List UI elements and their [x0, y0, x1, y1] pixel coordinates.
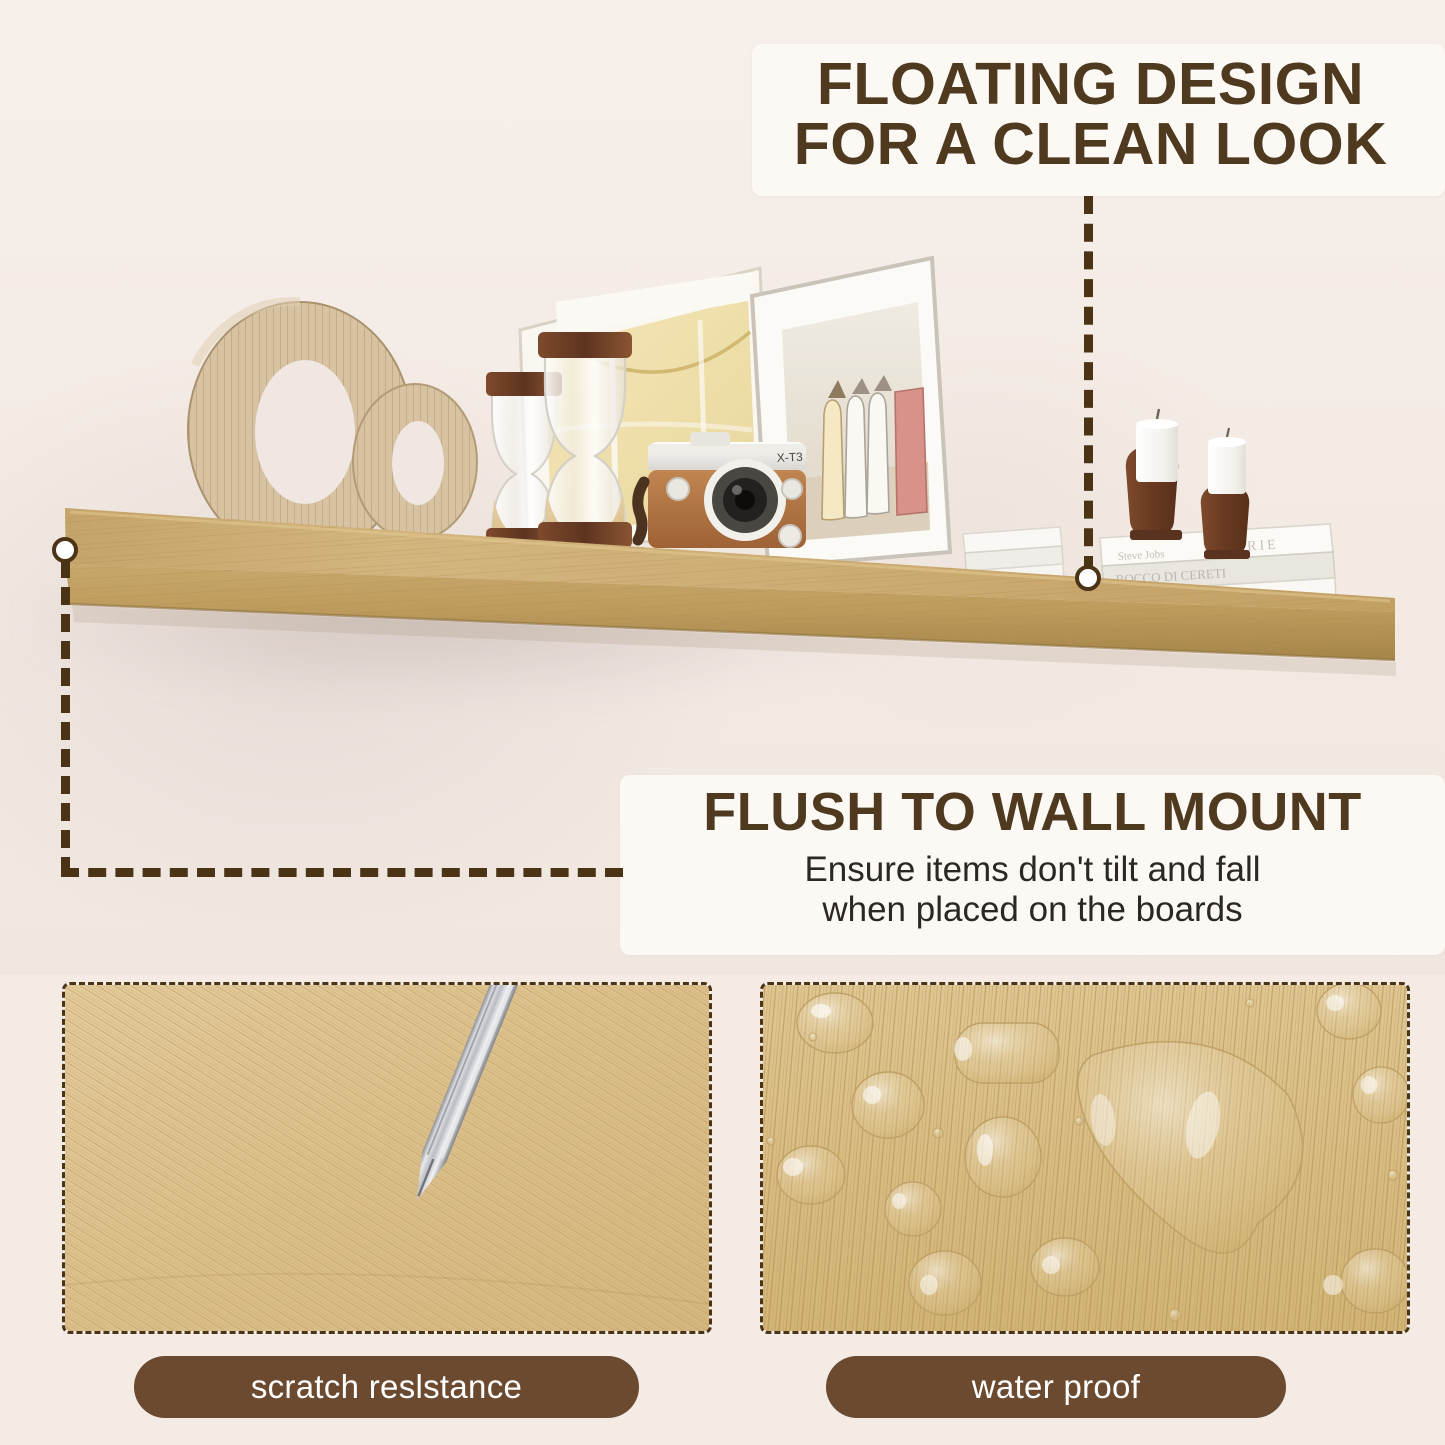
- callout-dot-top: [1075, 565, 1101, 591]
- flush-to-wall-subline-line2: when placed on the boards: [638, 890, 1427, 930]
- vintage-camera: X-T3: [638, 432, 806, 548]
- ring-sculpture-small: [353, 384, 477, 540]
- infographic-canvas: X-T3 Steve Jobs ROCCO DI CERETI CURIE St…: [0, 0, 1445, 1445]
- callout-dot-left: [52, 537, 78, 563]
- screwdriver-on-wood-grain: [65, 985, 712, 1334]
- flush-to-wall-subline-line1: Ensure items don't tilt and fall: [638, 850, 1427, 890]
- callout-card-flush-to-wall: FLUSH TO WALL MOUNT Ensure items don't t…: [620, 775, 1445, 955]
- water-droplets-on-wood-grain: [763, 985, 1410, 1334]
- svg-text:X-T3: X-T3: [776, 450, 803, 465]
- feature-label-water: water proof: [826, 1356, 1286, 1418]
- candle-holder-short: [1201, 428, 1250, 559]
- floating-design-headline-line1: FLOATING DESIGN: [752, 54, 1429, 114]
- feature-panel-water: [760, 982, 1410, 1334]
- callout-line-left-horizontal: [61, 868, 623, 877]
- feature-label-scratch: scratch reslstance: [134, 1356, 639, 1418]
- callout-line-top-vertical: [1084, 196, 1093, 574]
- candle-holder-tall: [1126, 409, 1182, 540]
- floating-design-headline-line2: FOR A CLEAN LOOK: [752, 114, 1429, 174]
- feature-panel-scratch: [62, 982, 712, 1334]
- callout-line-left-vertical: [61, 560, 70, 875]
- callout-card-floating-design: FLOATING DESIGN FOR A CLEAN LOOK: [752, 44, 1445, 196]
- flush-to-wall-headline: FLUSH TO WALL MOUNT: [638, 785, 1427, 840]
